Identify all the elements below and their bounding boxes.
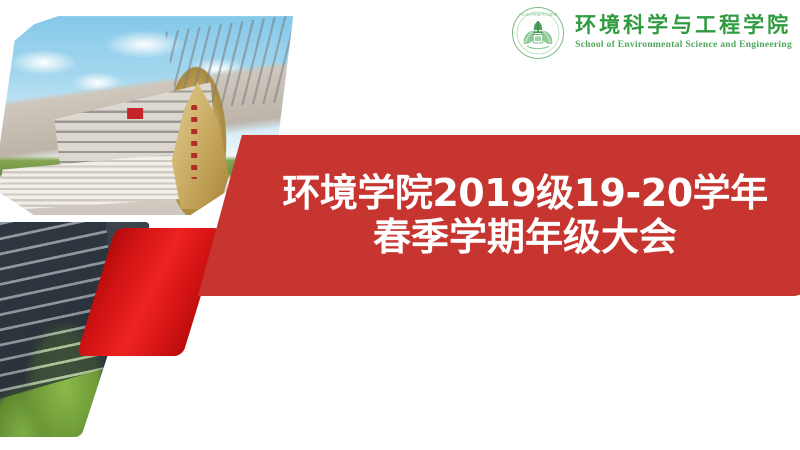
title-line-2: 春季学期年级大会 [373, 217, 677, 258]
title-line-1: 环境学院2019级19-20学年 [282, 173, 767, 214]
school-name-cn: 环境科学与工程学院 [575, 15, 791, 36]
school-name-block: 环境科学与工程学院 School of Environmental Scienc… [575, 15, 792, 51]
photo-flag-detail [127, 108, 143, 119]
slide-title: 环境学院2019级19-20学年 春季学期年级大会 [198, 135, 800, 296]
school-name-en: School of Environmental Science and Engi… [575, 41, 792, 51]
presentation-slide: 环境学院2019级19-20学年 春季学期年级大会 广东工业大学环境科学与工程学… [0, 0, 800, 450]
school-logo-header: 广东工业大学环境科学与工程学院 环境科学与工程学院 School of Envi… [511, 6, 792, 60]
svg-text:广东工业大学环境科学与工程学院: 广东工业大学环境科学与工程学院 [519, 13, 558, 17]
school-emblem-icon: 广东工业大学环境科学与工程学院 [511, 6, 565, 60]
